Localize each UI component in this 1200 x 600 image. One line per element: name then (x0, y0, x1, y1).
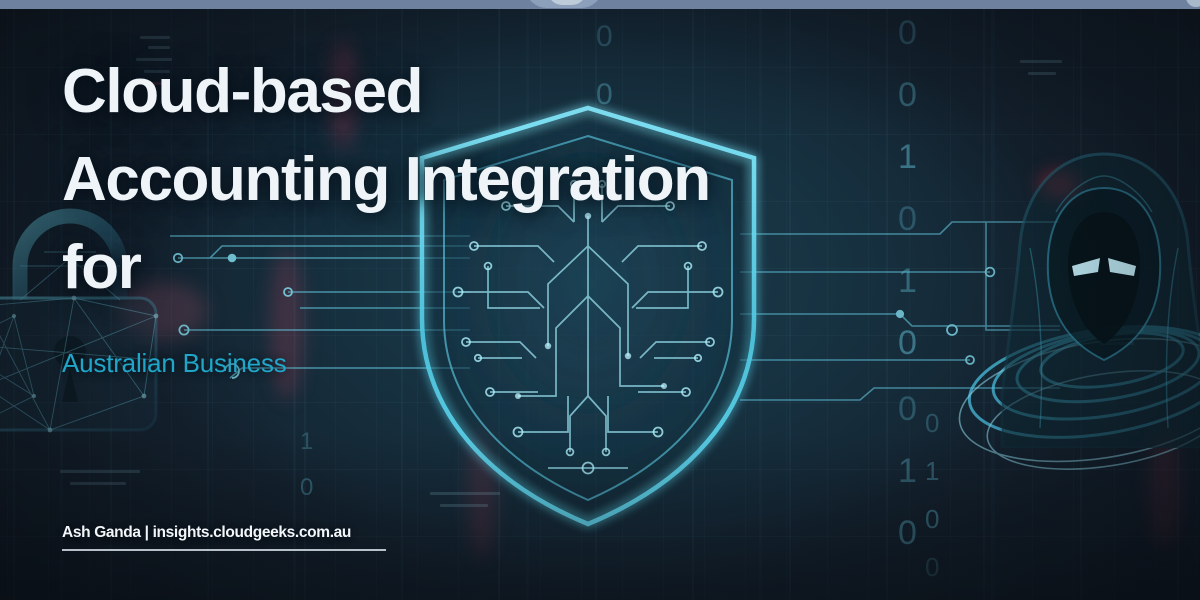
page-title: Cloud-based Accounting Integration for (62, 48, 892, 312)
blog-banner: 001010010000100010 (0, 0, 1200, 600)
byline-text: Ash Ganda | insights.cloudgeeks.com.au (62, 524, 386, 542)
top-strip (0, 0, 1200, 9)
byline-block: Ash Ganda | insights.cloudgeeks.com.au (62, 524, 386, 551)
byline-divider (62, 549, 386, 551)
page-subtitle: Australian Business (62, 348, 892, 379)
banner-text-block: Cloud-based Accounting Integration for A… (62, 48, 892, 379)
corner-dot-shape (1186, 0, 1200, 7)
